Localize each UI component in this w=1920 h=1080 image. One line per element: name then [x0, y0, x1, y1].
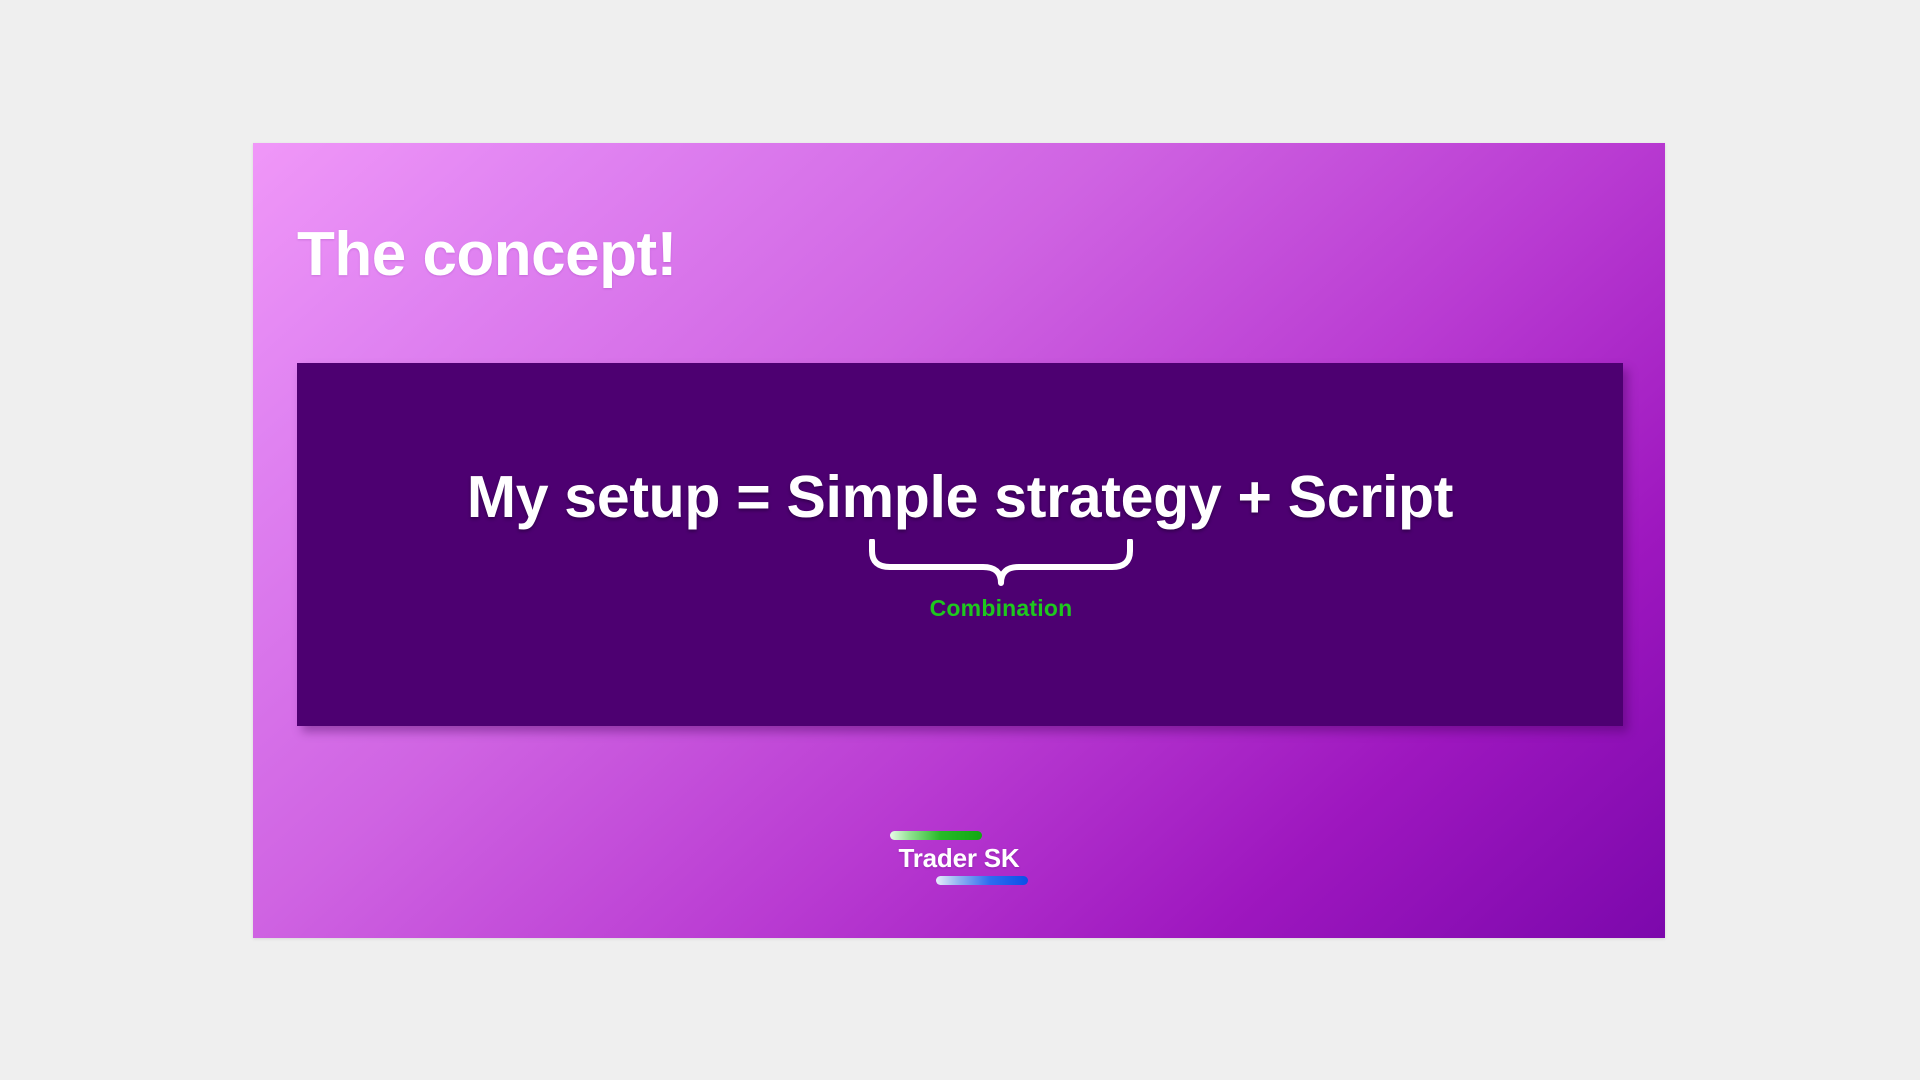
concept-panel: My setup = Simple strategy + Script Comb…	[297, 363, 1623, 726]
formula-text: My setup = Simple strategy + Script	[297, 463, 1623, 531]
underbrace-icon	[868, 539, 1134, 587]
combination-label: Combination	[868, 595, 1134, 622]
concept-panel-inner: My setup = Simple strategy + Script Comb…	[297, 363, 1623, 726]
brand-name-label: Trader SK	[888, 843, 1030, 874]
screenshot-canvas: The concept! My setup = Simple strategy …	[0, 0, 1920, 1080]
blue-gradient-bar-icon	[936, 876, 1028, 885]
green-gradient-bar-icon	[890, 831, 982, 840]
presentation-slide: The concept! My setup = Simple strategy …	[253, 143, 1665, 938]
brand-logo: Trader SK	[888, 831, 1030, 889]
page-title: The concept!	[297, 221, 677, 289]
combination-annotation: Combination	[868, 539, 1134, 651]
